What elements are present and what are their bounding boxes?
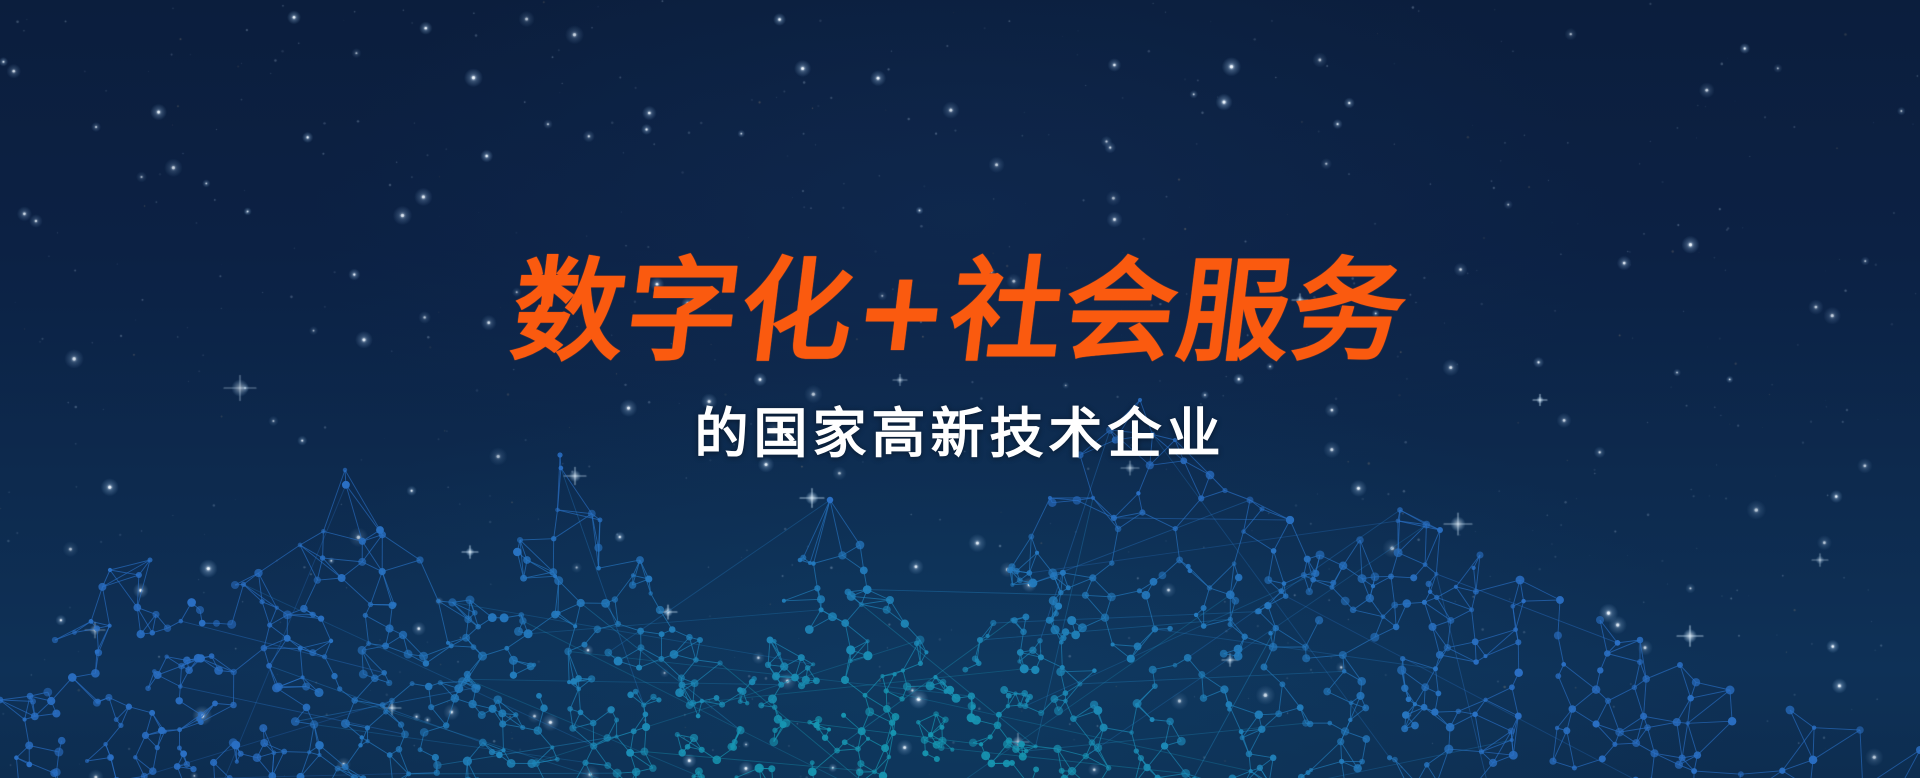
page-title: 数字化+社会服务 [0,255,1920,369]
hero-banner: 数字化+社会服务 的国家高新技术企业 [0,0,1920,778]
page-subtitle: 的国家高新技术企业 [0,389,1920,468]
hero-text-block: 数字化+社会服务 的国家高新技术企业 [0,255,1920,468]
